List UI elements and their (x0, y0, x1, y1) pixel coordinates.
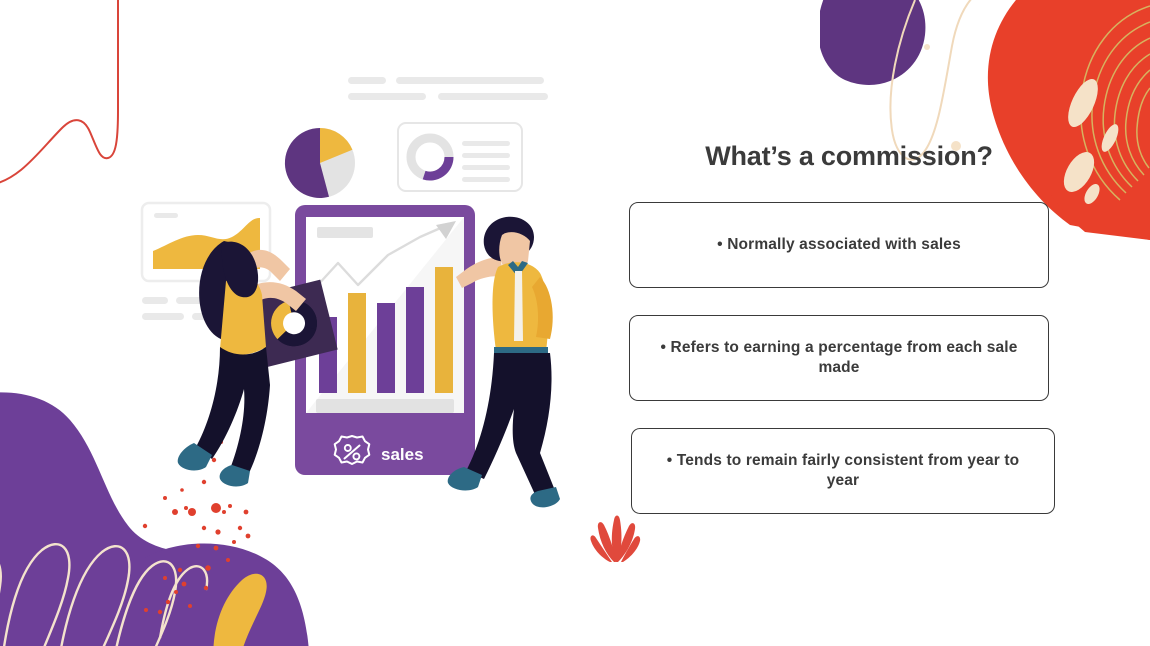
pie-chart-graphic (285, 128, 355, 198)
purple-blob-shape (820, 0, 925, 85)
donut-card-graphic (398, 123, 522, 191)
cream-swirl-line (890, 0, 988, 160)
bullet-text-1: • Normally associated with sales (717, 235, 961, 256)
man-tie (514, 271, 523, 341)
bullet-box-2[interactable]: • Refers to earning a percentage from ea… (629, 315, 1049, 401)
bar-4 (406, 287, 424, 393)
page-title: What’s a commission? (629, 140, 1069, 172)
bar-3 (377, 303, 395, 393)
sales-label: sales (381, 445, 424, 464)
yellow-curve-shape (213, 574, 266, 646)
bullet-text-2: • Refers to earning a percentage from ea… (648, 338, 1030, 379)
header-placeholder-lines (348, 77, 548, 100)
bar-2 (348, 293, 366, 393)
bullet-box-3[interactable]: • Tends to remain fairly consistent from… (631, 428, 1055, 514)
sales-dashboard-illustration: sales (120, 55, 630, 575)
content-column: What’s a commission? • Normally associat… (629, 140, 1069, 541)
gold-arc-lines (1081, 6, 1150, 200)
slide-canvas: sales (0, 0, 1150, 646)
bar-5 (435, 267, 453, 393)
bullet-text-3: • Tends to remain fairly consistent from… (650, 451, 1036, 492)
bullet-box-1[interactable]: • Normally associated with sales (629, 202, 1049, 288)
